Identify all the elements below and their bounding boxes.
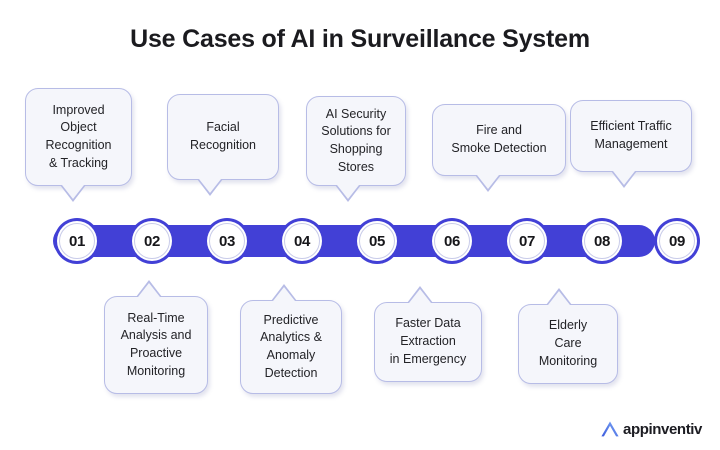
timeline-node-04[interactable]: 04	[279, 218, 325, 264]
callout-label: Faster Data Extraction in Emergency	[384, 315, 472, 368]
node-number: 07	[509, 223, 545, 259]
node-ring: 07	[507, 221, 547, 261]
triangle-a-icon	[600, 420, 620, 438]
callout-tail-08	[546, 288, 572, 305]
callout-tail-06	[407, 286, 433, 303]
timeline-node-09[interactable]: 09	[654, 218, 700, 264]
callout-box-06[interactable]: Faster Data Extraction in Emergency	[374, 302, 482, 382]
timeline-node-08[interactable]: 08	[579, 218, 625, 264]
callout-box-07[interactable]: Fire and Smoke Detection	[432, 104, 566, 176]
node-number: 03	[209, 223, 245, 259]
timeline-node-07[interactable]: 07	[504, 218, 550, 264]
node-number: 06	[434, 223, 470, 259]
node-number: 04	[284, 223, 320, 259]
callout-tail-03	[197, 179, 223, 196]
callout-label: Efficient Traffic Management	[584, 118, 678, 154]
node-ring: 09	[657, 221, 697, 261]
callout-box-05[interactable]: AI Security Solutions for Shopping Store…	[306, 96, 406, 186]
node-number: 05	[359, 223, 395, 259]
callout-label: Real-Time Analysis and Proactive Monitor…	[115, 310, 198, 381]
infographic-canvas: Use Cases of AI in Surveillance System 0…	[0, 0, 720, 450]
page-title: Use Cases of AI in Surveillance System	[0, 24, 720, 54]
callout-box-01[interactable]: Improved Object Recognition & Tracking	[25, 88, 132, 186]
callout-tail-09	[611, 171, 637, 188]
callout-tail-04	[271, 284, 297, 301]
node-number: 08	[584, 223, 620, 259]
timeline-node-03[interactable]: 03	[204, 218, 250, 264]
node-ring: 05	[357, 221, 397, 261]
callout-tail-05	[335, 185, 361, 202]
node-number: 02	[134, 223, 170, 259]
callout-label: Elderly Care Monitoring	[533, 317, 603, 370]
callout-box-08[interactable]: Elderly Care Monitoring	[518, 304, 618, 384]
callout-label: Fire and Smoke Detection	[445, 122, 552, 158]
callout-label: Predictive Analytics & Anomaly Detection	[254, 312, 328, 383]
callout-label: Improved Object Recognition & Tracking	[39, 102, 117, 173]
node-ring: 04	[282, 221, 322, 261]
callout-label: AI Security Solutions for Shopping Store…	[315, 106, 396, 177]
callout-tail-02	[136, 280, 162, 297]
callout-tail-07	[475, 175, 501, 192]
node-ring: 03	[207, 221, 247, 261]
brand-logo: appinventiv	[600, 420, 702, 438]
node-ring: 08	[582, 221, 622, 261]
callout-label: Facial Recognition	[184, 119, 262, 155]
timeline-node-05[interactable]: 05	[354, 218, 400, 264]
timeline-node-01[interactable]: 01	[54, 218, 100, 264]
callout-box-04[interactable]: Predictive Analytics & Anomaly Detection	[240, 300, 342, 394]
brand-name: appinventiv	[623, 421, 702, 438]
node-number: 09	[659, 223, 695, 259]
callout-box-09[interactable]: Efficient Traffic Management	[570, 100, 692, 172]
timeline-node-02[interactable]: 02	[129, 218, 175, 264]
node-ring: 02	[132, 221, 172, 261]
callout-tail-01	[60, 185, 86, 202]
node-number: 01	[59, 223, 95, 259]
callout-box-02[interactable]: Real-Time Analysis and Proactive Monitor…	[104, 296, 208, 394]
timeline-node-06[interactable]: 06	[429, 218, 475, 264]
node-ring: 01	[57, 221, 97, 261]
node-ring: 06	[432, 221, 472, 261]
callout-box-03[interactable]: Facial Recognition	[167, 94, 279, 180]
